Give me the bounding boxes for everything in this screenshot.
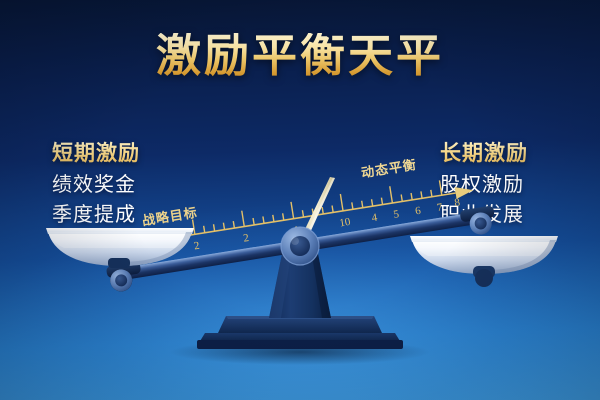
- ruler-number-right-2: 5: [393, 208, 401, 221]
- left-pan-stem: [108, 258, 130, 268]
- infographic-canvas: 激励平衡天平 短期激励 绩效奖金 季度提成 长期激励 股权激励 职业发展: [0, 0, 600, 400]
- ruler-number-right-4: 7: [436, 201, 444, 214]
- right-hanger: [459, 205, 497, 237]
- ruler-number-right-5: 8: [454, 196, 462, 209]
- scale-base: [197, 316, 403, 349]
- ruler-number-left-2: 2: [193, 240, 200, 253]
- balance-scale-graphic: 1 2 2 4 10 4 5 6 7 8 战略目标 动态平衡: [0, 0, 600, 400]
- ruler-number-right-1: 4: [371, 212, 379, 225]
- ruler-left-label: 战略目标: [141, 205, 199, 229]
- pivot-knob: [281, 227, 319, 265]
- ruler-right-label: 动态平衡: [360, 157, 418, 181]
- ruler-number-left-3: 2: [242, 232, 249, 245]
- right-pan-stem: [473, 266, 495, 287]
- ruler-number-right-3: 6: [414, 205, 422, 218]
- ruler-number-left-5: 10: [339, 216, 352, 230]
